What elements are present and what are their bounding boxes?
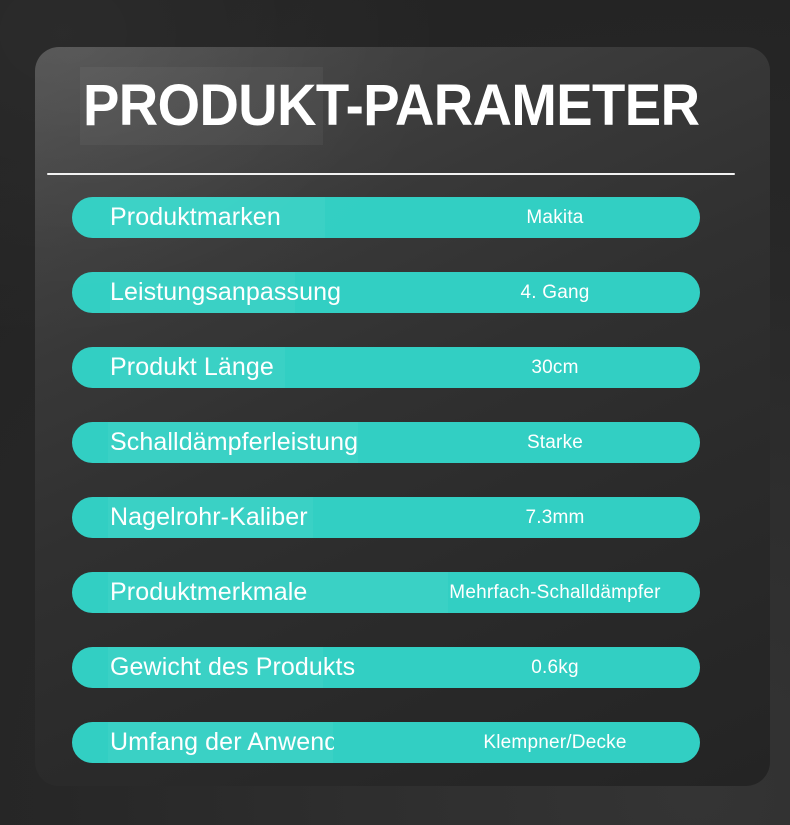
parameter-value: 4. Gang	[415, 272, 695, 313]
product-parameter-card: PRODUKT-PARAMETER Produktmarken Makita L…	[35, 47, 770, 786]
table-row: Umfang der Anwendung Klempner/Decke	[72, 722, 700, 763]
table-row: Gewicht des Produkts 0.6kg	[72, 647, 700, 688]
page-background: PRODUKT-PARAMETER Produktmarken Makita L…	[0, 0, 790, 825]
parameter-value: Makita	[415, 197, 695, 238]
header-divider	[47, 173, 735, 175]
parameter-value: 30cm	[415, 347, 695, 388]
parameter-value: 0.6kg	[415, 647, 695, 688]
table-row: Nagelrohr-Kaliber 7.3mm	[72, 497, 700, 538]
parameter-label: Umfang der Anwendung	[110, 722, 334, 763]
table-row: Produkt Länge 30cm	[72, 347, 700, 388]
parameter-label: Leistungsanpassung	[110, 272, 341, 313]
table-row: Leistungsanpassung 4. Gang	[72, 272, 700, 313]
parameter-value: Mehrfach-Schalldämpfer	[415, 572, 695, 613]
parameter-label: Produktmarken	[110, 197, 281, 238]
parameter-value: 7.3mm	[415, 497, 695, 538]
parameter-value: Klempner/Decke	[415, 722, 695, 763]
parameter-list: Produktmarken Makita Leistungsanpassung …	[72, 197, 700, 763]
parameter-label: Produktmerkmale	[110, 572, 307, 613]
parameter-value: Starke	[415, 422, 695, 463]
parameter-label: Produkt Länge	[110, 347, 274, 388]
table-row: Schalldämpferleistung Starke	[72, 422, 700, 463]
page-title: PRODUKT-PARAMETER	[83, 64, 699, 148]
parameter-label: Nagelrohr-Kaliber	[110, 497, 308, 538]
parameter-label: Schalldämpferleistung	[110, 422, 358, 463]
table-row: Produktmarken Makita	[72, 197, 700, 238]
card-header: PRODUKT-PARAMETER	[35, 47, 770, 185]
parameter-label: Gewicht des Produkts	[110, 647, 355, 688]
table-row: Produktmerkmale Mehrfach-Schalldämpfer	[72, 572, 700, 613]
